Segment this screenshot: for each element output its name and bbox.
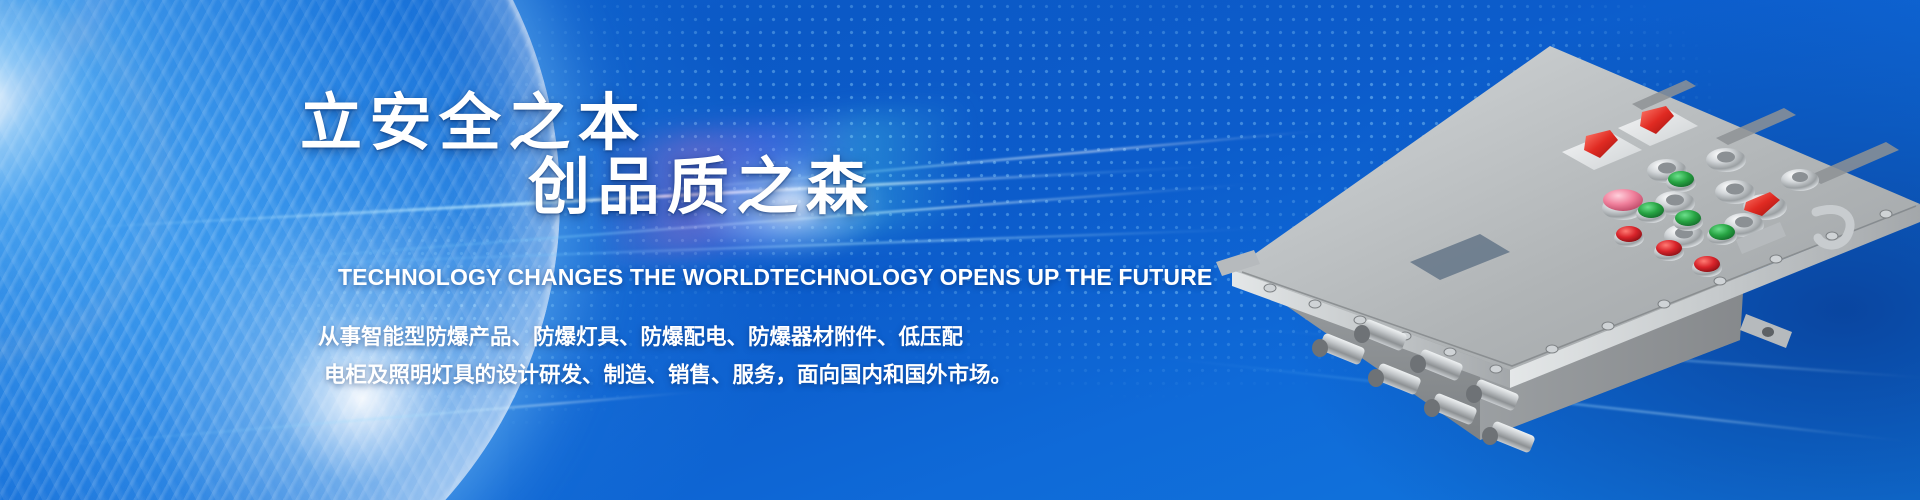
mounting-lug-hole: [1762, 327, 1774, 337]
headline-line-2: 创品质之森: [528, 136, 875, 226]
body-paragraph-line-2: 电柜及照明灯具的设计研发、制造、销售、服务，面向国内和国外市场。: [318, 356, 1098, 394]
explosion-proof-control-box-image: [1180, 40, 1920, 460]
banner-copy-block: 立安全之本 创品质之森 TECHNOLOGY CHANGES THE WORLD…: [0, 0, 1100, 500]
english-subtitle: TECHNOLOGY CHANGES THE WORLDTECHNOLOGY O…: [338, 264, 1212, 291]
body-paragraph-line-1: 从事智能型防爆产品、防爆灯具、防爆配电、防爆器材附件、低压配: [318, 318, 1098, 356]
body-paragraph: 从事智能型防爆产品、防爆灯具、防爆配电、防爆器材附件、低压配 电柜及照明灯具的设…: [318, 318, 1098, 394]
selector-knob: [1706, 148, 1746, 172]
hero-banner: 立安全之本 创品质之森 TECHNOLOGY CHANGES THE WORLD…: [0, 0, 1920, 500]
selector-knob: [1781, 169, 1819, 191]
selector-knob: [1715, 180, 1755, 204]
